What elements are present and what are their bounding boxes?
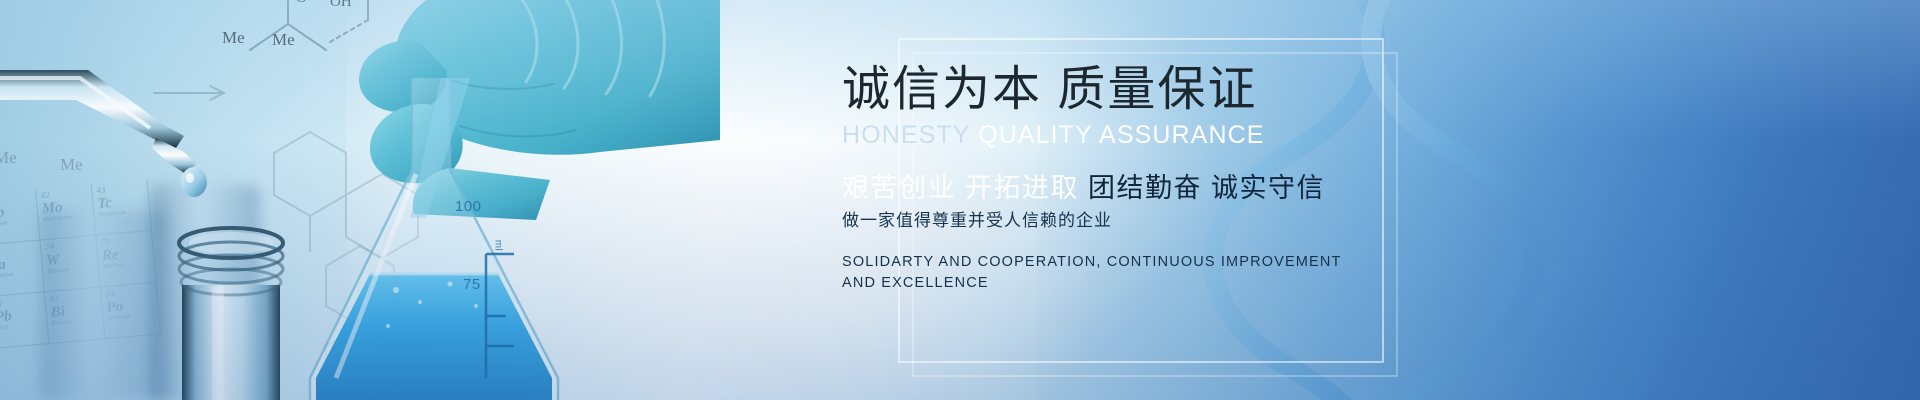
- banner-subheadline: HONESTY QUALITY ASSURANCE: [842, 122, 1502, 150]
- banner-headline: 诚信为本 质量保证: [842, 64, 1502, 116]
- subheadline-quality-assurance: QUALITY ASSURANCE: [978, 121, 1264, 149]
- slogan-part-light: 艰苦创业 开拓进取: [842, 173, 1079, 203]
- banner-footline: SOLIDARTY AND COOPERATION, CONTINUOUS IM…: [842, 252, 1502, 294]
- banner-slogan: 艰苦创业 开拓进取 团结勤奋 诚实守信: [842, 173, 1502, 204]
- banner-copy-block: 诚信为本 质量保证 HONESTY QUALITY ASSURANCE 艰苦创业…: [842, 64, 1502, 294]
- promo-banner: 41 Nb Niobium 42 Mo Molybdenum 43 Tc Tec…: [0, 0, 1920, 400]
- slogan-part-dark: 团结勤奋 诚实守信: [1088, 173, 1325, 203]
- subheadline-honesty: HONESTY: [842, 121, 970, 149]
- banner-tagline: 做一家值得尊重并受人信赖的企业: [842, 211, 1502, 231]
